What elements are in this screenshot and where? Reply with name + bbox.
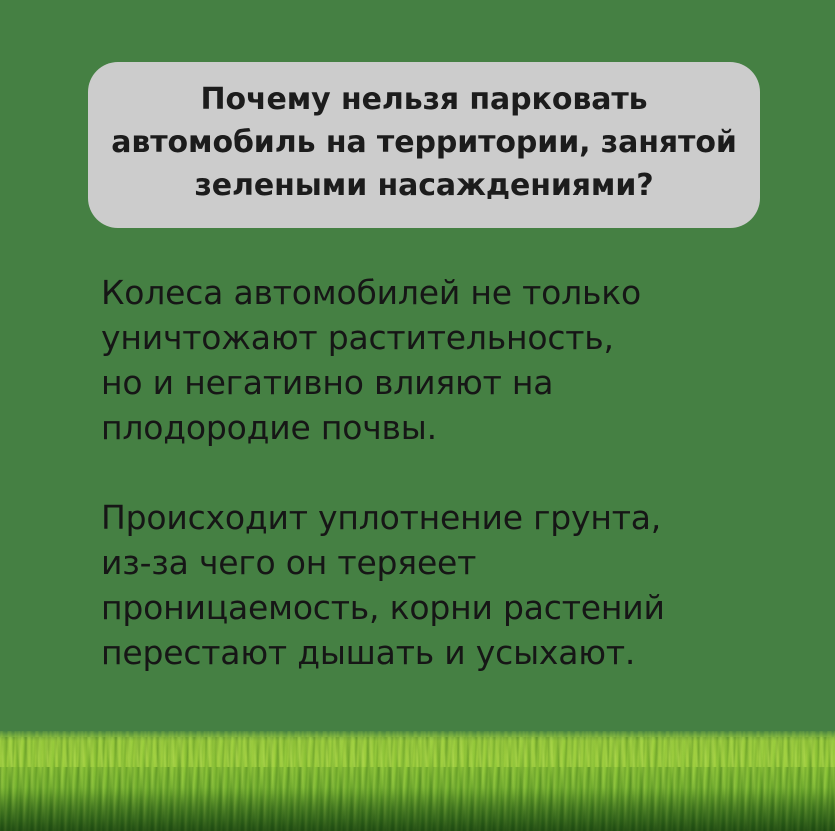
paragraph-1-line-2: уничтожают растительность,	[101, 315, 741, 360]
paragraph-1-line-4: плодородие почвы.	[101, 405, 741, 450]
paragraph-1-line-1: Колеса автомобилей не только	[101, 270, 741, 315]
question-line-2: автомобиль на территории, занятой	[111, 121, 737, 164]
paragraph-2-line-3: проницаемость, корни растений	[101, 585, 741, 630]
poster-root: Почему нельзя парковать автомобиль на те…	[0, 0, 835, 831]
grass-illustration	[0, 731, 835, 831]
paragraph-2: Происходит уплотнение грунта, из-за чего…	[101, 495, 741, 675]
paragraph-1: Колеса автомобилей не только уничтожают …	[101, 270, 741, 450]
paragraph-2-line-2: из-за чего он теряеет	[101, 540, 741, 585]
paragraph-2-line-4: перестают дышать и усыхают.	[101, 630, 741, 675]
question-line-1: Почему нельзя парковать	[200, 78, 647, 121]
body-text-block: Колеса автомобилей не только уничтожают …	[101, 270, 741, 675]
paragraph-1-line-3: но и негативно влияют на	[101, 360, 741, 405]
grass-shadow-layer	[0, 787, 835, 831]
question-card: Почему нельзя парковать автомобиль на те…	[88, 62, 760, 228]
grass-tips-layer	[0, 731, 835, 767]
question-line-3: зелеными насаждениями?	[194, 164, 653, 207]
paragraph-2-line-1: Происходит уплотнение грунта,	[101, 495, 741, 540]
